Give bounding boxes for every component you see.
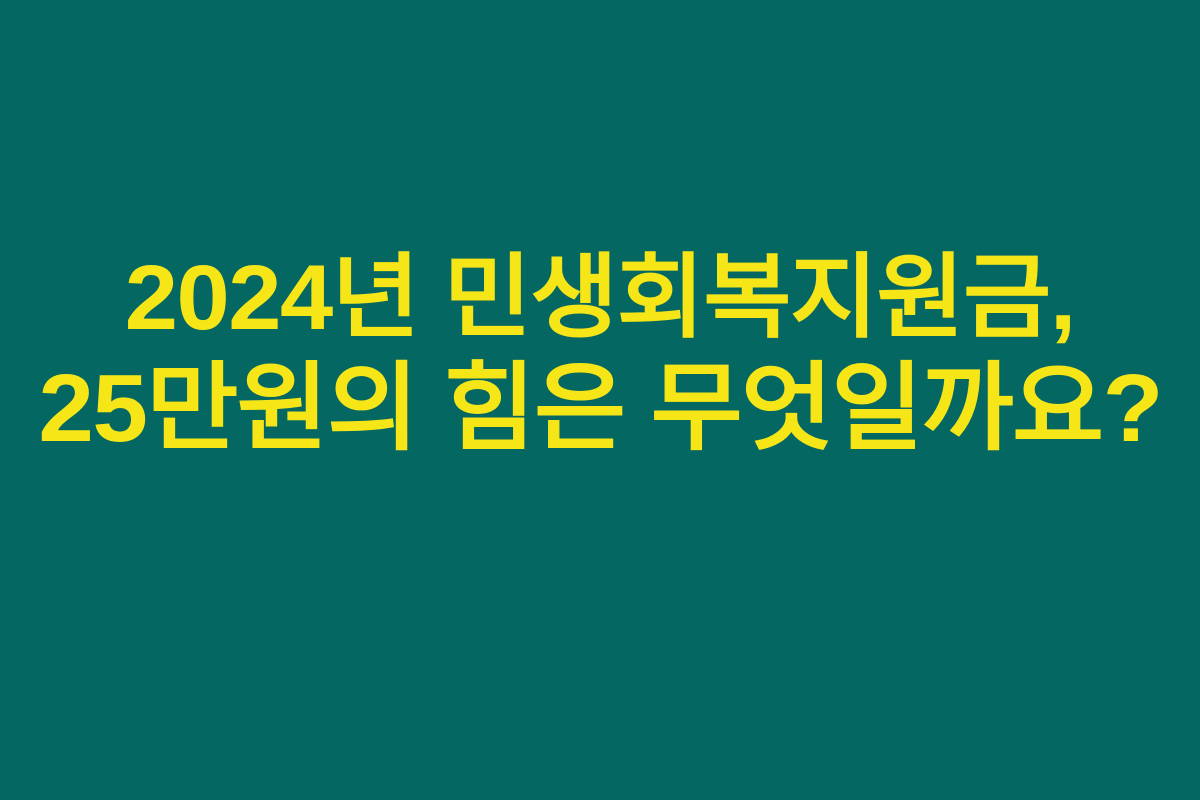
headline-block: 2024년 민생회복지원금, 25만원의 힘은 무엇일까요? [0, 245, 1200, 465]
headline-line-2: 25만원의 힘은 무엇일까요? [38, 353, 1162, 465]
promo-banner: 2024년 민생회복지원금, 25만원의 힘은 무엇일까요? [0, 0, 1200, 800]
headline-line-1: 2024년 민생회복지원금, [125, 245, 1075, 353]
